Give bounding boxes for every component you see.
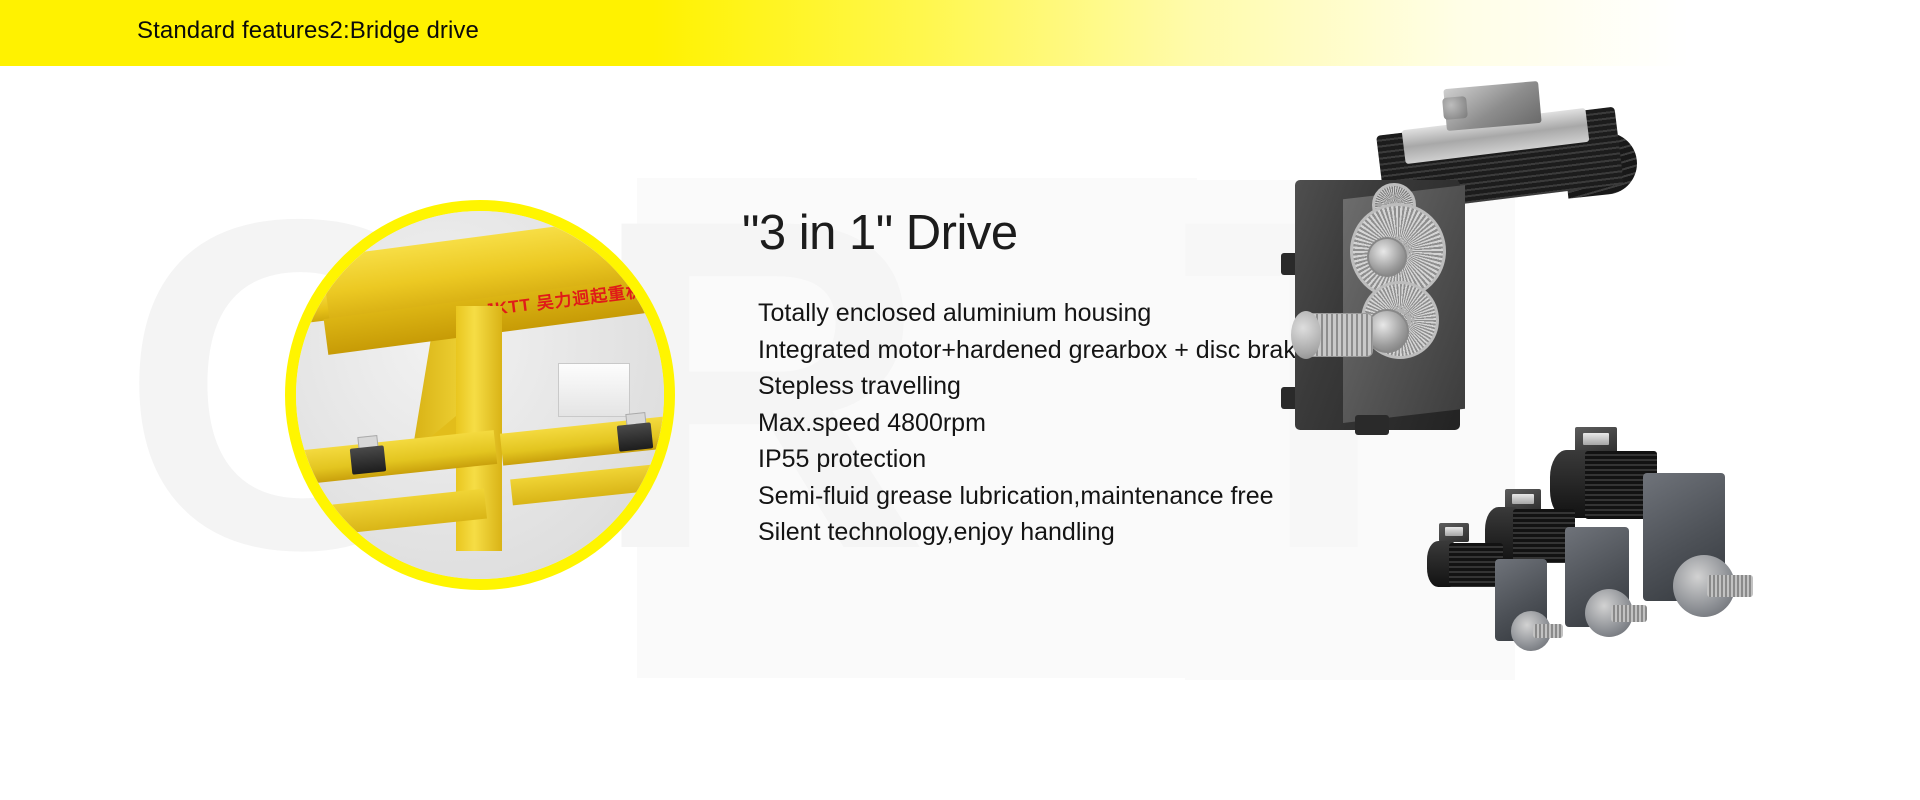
gearbox-foot-base — [1355, 415, 1389, 435]
geared-motor-family-render — [1425, 415, 1795, 665]
gear-hub-upper — [1367, 237, 1407, 277]
feature-item: IP55 protection — [758, 441, 1310, 478]
crane-control-box — [558, 363, 630, 417]
output-shaft-large — [1707, 575, 1753, 597]
terminal-connector — [1442, 96, 1468, 120]
feature-item: Silent technology,enjoy handling — [758, 514, 1310, 551]
feature-list: Totally enclosed aluminium housing Integ… — [758, 295, 1310, 551]
output-shaft-small — [1533, 624, 1563, 638]
output-shaft-end — [1291, 311, 1321, 359]
bridge-drive-photo: JKTT 吴力迥起重机 — [285, 200, 675, 590]
feature-item: Totally enclosed aluminium housing — [758, 295, 1310, 332]
feature-item: Max.speed 4800rpm — [758, 405, 1310, 442]
crane-rail-right-bottom — [510, 459, 664, 506]
terminal-plate-large — [1583, 433, 1609, 445]
feature-item: Semi-fluid grease lubrication,maintenanc… — [758, 478, 1310, 515]
page-title: "3 in 1" Drive — [742, 205, 1018, 261]
terminal-plate-small — [1445, 527, 1463, 536]
photo-content: JKTT 吴力迥起重机 — [296, 211, 664, 579]
terminal-plate-medium — [1512, 494, 1534, 504]
feature-item: Integrated motor+hardened grearbox + dis… — [758, 332, 1310, 369]
slide-root: C R T Standard features2:Bridge drive JK… — [0, 0, 1920, 800]
gearbox-motor-cutaway-render — [1295, 85, 1650, 435]
feature-item: Stepless travelling — [758, 368, 1310, 405]
output-shaft-medium — [1611, 605, 1647, 622]
crane-motor-right — [617, 422, 654, 451]
header-title: Standard features2:Bridge drive — [137, 17, 479, 45]
crane-motor-left — [350, 445, 387, 474]
